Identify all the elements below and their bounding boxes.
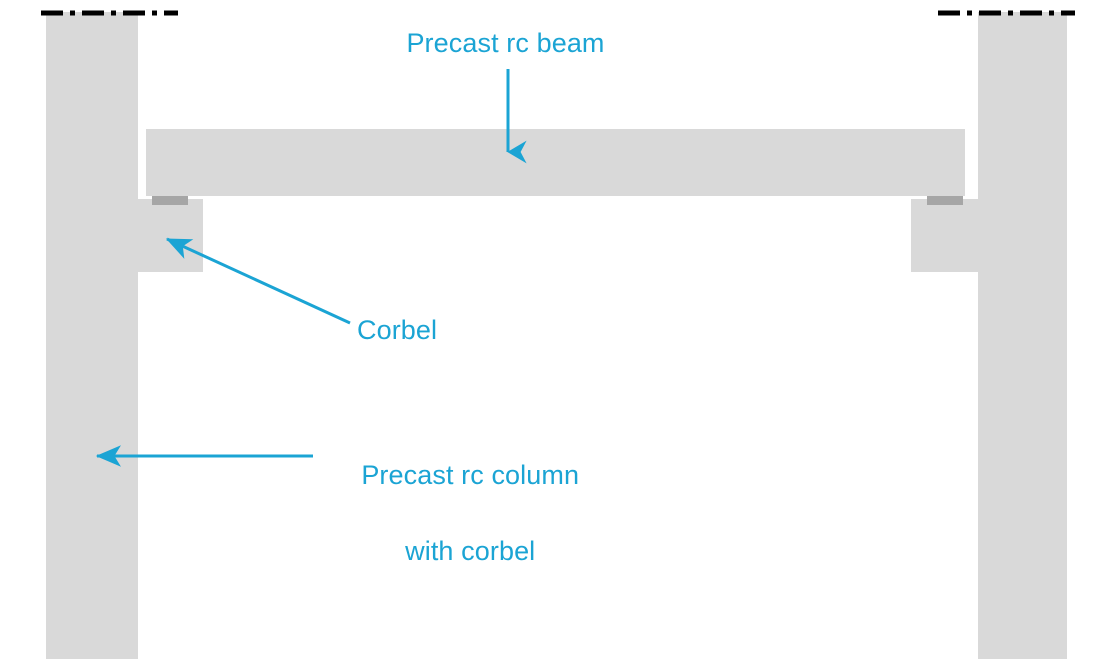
precast-rc-column-left	[46, 12, 138, 659]
diagonal-arrow-to-corbel	[167, 239, 350, 323]
bearing-pad-right	[927, 196, 963, 205]
label-precast-rc-column-with-corbel: Precast rc column with corbel	[330, 418, 580, 608]
precast-rc-column-right	[978, 12, 1067, 659]
precast-rc-beam	[146, 129, 965, 196]
label-corbel: Corbel	[357, 311, 437, 349]
label-precast-rc-beam: Precast rc beam	[0, 24, 1011, 62]
precast-connection-diagram: Precast rc beam Corbel Precast rc column…	[0, 0, 1111, 659]
corbel-left	[138, 199, 203, 272]
label-column-line-2: with corbel	[405, 536, 535, 566]
label-column-line-1: Precast rc column	[361, 460, 579, 490]
bearing-pad-left	[152, 196, 188, 205]
corbel-right	[911, 199, 978, 272]
